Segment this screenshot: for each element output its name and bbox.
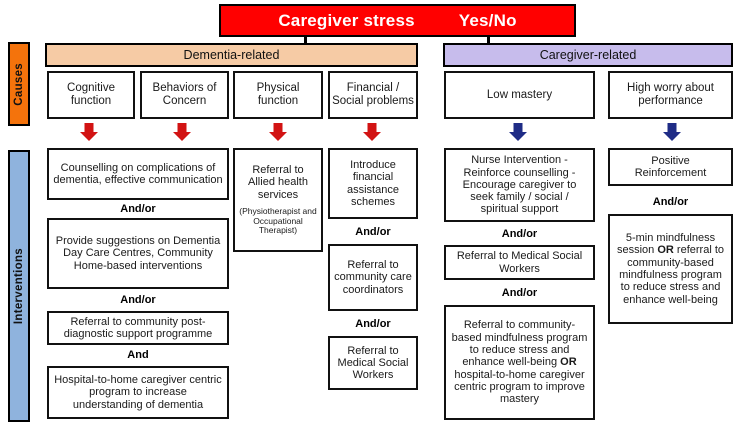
- intervention-text-wrapper: Referral to Allied health services (Phys…: [239, 164, 317, 236]
- cause-label: High worry about performance: [610, 82, 731, 108]
- intervention-text: Referral to community care coordinators: [334, 259, 412, 296]
- cause-label: Behaviors of Concern: [142, 82, 227, 108]
- cause-box-cognitive-function: Cognitive function: [47, 71, 135, 119]
- and-or-text: And/or: [355, 226, 390, 238]
- and-text: And: [127, 349, 148, 361]
- root-decision-value: Yes/No: [459, 11, 517, 31]
- intervention-text: Referral to Allied health services: [248, 164, 308, 201]
- intervention-box-positive-reinforcement: Positive Reinforcement: [608, 148, 733, 186]
- root-label: Caregiver stress: [278, 11, 414, 31]
- intervention-text: Provide suggestions on Dementia Day Care…: [53, 235, 223, 272]
- intervention-box-mindfulness-or-hospital-to-home: Referral to community-based mindfulness …: [444, 305, 595, 420]
- connector-label-and-or: And/or: [328, 226, 418, 238]
- intervention-text: Hospital-to-home caregiver centric progr…: [53, 374, 223, 411]
- cause-label: Low mastery: [446, 89, 593, 102]
- and-or-text: And/or: [653, 196, 688, 208]
- intervention-box-allied-health: Referral to Allied health services (Phys…: [233, 148, 323, 252]
- intervention-box-counselling: Counselling on complications of dementia…: [47, 148, 229, 200]
- intervention-box-day-care-centres: Provide suggestions on Dementia Day Care…: [47, 218, 229, 289]
- category-bar-dementia: Dementia-related: [45, 43, 418, 67]
- rail-interventions: Interventions: [8, 150, 30, 422]
- intervention-box-care-coordinators: Referral to community care coordinators: [328, 244, 418, 311]
- cause-box-behaviors-of-concern: Behaviors of Concern: [140, 71, 229, 119]
- connector-label-and-or: And/or: [47, 294, 229, 306]
- intervention-text: Introduce financial assistance schemes: [334, 159, 412, 208]
- connector-label-and-or: And/or: [444, 287, 595, 299]
- intervention-text: Referral to Medical Social Workers: [450, 250, 589, 275]
- intervention-box-medical-social-workers-mastery: Referral to Medical Social Workers: [444, 245, 595, 280]
- rail-interventions-label: Interventions: [13, 248, 25, 324]
- rail-causes: Causes: [8, 42, 30, 126]
- cause-box-financial-social-problems: Financial / Social problems: [328, 71, 418, 119]
- connector-label-and-or: And/or: [444, 228, 595, 240]
- cause-box-physical-function: Physical function: [233, 71, 323, 119]
- category-dementia-label: Dementia-related: [47, 48, 416, 62]
- category-caregiver-label: Caregiver-related: [445, 48, 731, 62]
- and-or-text: And/or: [502, 287, 537, 299]
- and-or-text: And/or: [355, 318, 390, 330]
- intervention-box-nurse-intervention: Nurse Intervention - Reinforce counselli…: [444, 148, 595, 222]
- root-decision-box: Caregiver stress Yes/No: [219, 4, 576, 37]
- connector-label-and: And: [47, 349, 229, 361]
- cause-box-low-mastery: Low mastery: [444, 71, 595, 119]
- intervention-box-post-diagnostic-support: Referral to community post-diagnostic su…: [47, 311, 229, 345]
- cause-label: Physical function: [235, 82, 321, 108]
- intervention-text: 5-min mindfulness session OR referral to…: [614, 232, 727, 306]
- connector-label-and-or: And/or: [328, 318, 418, 330]
- intervention-text: Referral to Medical Social Workers: [334, 345, 412, 382]
- connector-label-and-or: And/or: [47, 203, 229, 215]
- intervention-note: (Physiotherapist and Occupational Therap…: [239, 207, 317, 236]
- flowchart-canvas: Caregiver stress Yes/No Causes Intervent…: [0, 0, 740, 432]
- rail-causes-label: Causes: [13, 63, 25, 106]
- intervention-text: Referral to community-based mindfulness …: [450, 319, 589, 405]
- category-bar-caregiver: Caregiver-related: [443, 43, 733, 67]
- intervention-box-hospital-to-home-dementia: Hospital-to-home caregiver centric progr…: [47, 366, 229, 419]
- cause-label: Cognitive function: [49, 82, 133, 108]
- intervention-text: Referral to community post-diagnostic su…: [53, 316, 223, 341]
- cause-box-high-worry: High worry about performance: [608, 71, 733, 119]
- intervention-text: Positive Reinforcement: [614, 155, 727, 180]
- and-or-text: And/or: [502, 228, 537, 240]
- cause-label: Financial / Social problems: [330, 82, 416, 108]
- intervention-box-medical-social-workers-financial: Referral to Medical Social Workers: [328, 336, 418, 390]
- and-or-text: And/or: [120, 294, 155, 306]
- intervention-text: Counselling on complications of dementia…: [53, 162, 223, 187]
- intervention-box-5min-mindfulness: 5-min mindfulness session OR referral to…: [608, 214, 733, 324]
- intervention-text: Nurse Intervention - Reinforce counselli…: [450, 154, 589, 216]
- intervention-box-financial-assistance: Introduce financial assistance schemes: [328, 148, 418, 219]
- and-or-text: And/or: [120, 203, 155, 215]
- connector-label-and-or: And/or: [608, 196, 733, 208]
